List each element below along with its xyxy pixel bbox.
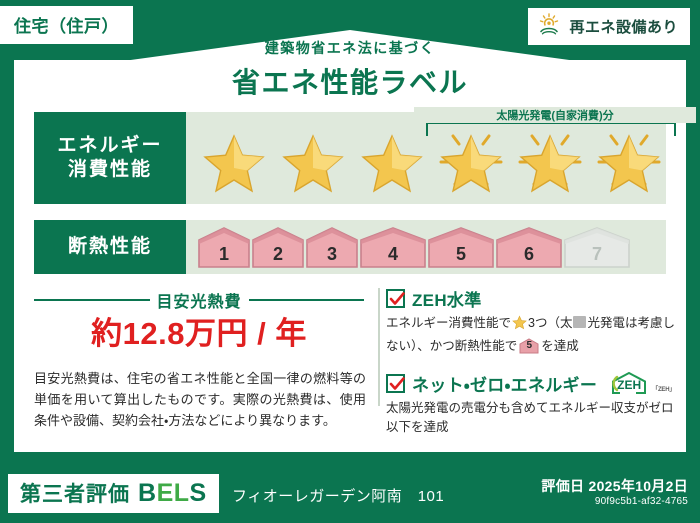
star-icon xyxy=(354,122,429,194)
checkbox-checked-icon xyxy=(386,374,405,393)
energy-star-rating xyxy=(186,112,666,204)
cost-rule-left xyxy=(34,299,150,301)
renewable-energy-badge: 再エネ設備あり xyxy=(528,8,690,45)
star-solar-icon xyxy=(433,122,508,194)
insulation-row-body: 1 2 3 4 5 6 7 xyxy=(186,220,666,274)
evaluation-date: 評価日 2025年10月2日 xyxy=(541,476,688,496)
section-divider xyxy=(378,288,380,406)
cost-value: 約12.8万円 / 年 xyxy=(34,308,364,353)
star-icon xyxy=(275,122,350,194)
insulation-level-number: 5 xyxy=(456,244,466,268)
claim-net-zero-energy: ネット・ゼロ・エネルギー ZEH 「ZEH」 太陽光発電の売電分も含めてエネルギ… xyxy=(386,371,682,439)
claim-net-zero-header: ネット・ゼロ・エネルギー ZEH 「ZEH」 xyxy=(386,371,682,396)
claim-zeh-text-end: を達成 xyxy=(541,339,579,353)
claims-panel: ZEH水準 エネルギー消費性能で3つ（太光発電は考慮しない）、かつ断熱性能で5を… xyxy=(386,286,682,448)
insulation-level-house: 1 xyxy=(198,226,250,268)
star-solar-icon xyxy=(591,122,666,194)
claim-zeh-standard: ZEH水準 エネルギー消費性能で3つ（太光発電は考慮しない）、かつ断熱性能で5を… xyxy=(386,286,682,361)
insulation-level-scale: 1 2 3 4 5 6 7 xyxy=(186,220,666,274)
star-solar-icon xyxy=(512,122,587,194)
star-icon-inline xyxy=(512,315,527,337)
bels-en-text: BELS xyxy=(138,479,207,508)
house-icon-level: 5 xyxy=(519,338,539,354)
energy-label-line2: 消費性能 xyxy=(68,158,152,182)
bels-letters-el: EL xyxy=(157,479,190,507)
house-icon-inline: 5 xyxy=(519,338,539,361)
zeh-logo: ZEH 「ZEH」 xyxy=(608,371,675,395)
property-name: フィオーレガーデン阿南 101 xyxy=(232,485,444,506)
label-title: 建築物省エネ法に基づく 省エネ性能ラベル xyxy=(0,38,700,101)
claim-zeh-text-mid: 3つ（太 xyxy=(528,316,572,330)
bels-letter-b: B xyxy=(138,479,157,507)
claim-zeh-text-pre: エネルギー消費性能で xyxy=(386,316,511,330)
bels-letter-s: S xyxy=(190,479,207,507)
energy-row-body: 太陽光発電(自家消費)分 xyxy=(186,112,666,204)
bels-jp-text: 第三者評価 xyxy=(20,478,130,508)
title-main: 省エネ性能ラベル xyxy=(0,61,700,101)
insulation-level-house: 3 xyxy=(306,226,358,268)
zeh-logo-text: ZEH xyxy=(608,371,650,395)
solar-sun-icon xyxy=(536,13,562,40)
insulation-level-number: 6 xyxy=(524,244,534,268)
insulation-level-number: 2 xyxy=(273,244,283,268)
insulation-level-number: 7 xyxy=(592,244,602,268)
claim-net-zero-title: ネット・ゼロ・エネルギー xyxy=(412,371,597,396)
zeh-logo-caption: 「ZEH」 xyxy=(652,384,675,395)
energy-row-label: エネルギー 消費性能 xyxy=(34,112,186,204)
footer-bar: 第三者評価 BELS フィオーレガーデン阿南 101 評価日 2025年10月2… xyxy=(0,465,700,523)
redacted-text-block xyxy=(573,316,586,328)
energy-label-line1: エネルギー xyxy=(57,134,162,158)
energy-performance-row: エネルギー 消費性能 太陽光発電(自家消費)分 xyxy=(34,112,666,204)
claim-zeh-title: ZEH水準 xyxy=(412,286,482,311)
energy-performance-label: 住宅（住戸） 再エネ設備あり 建築物省エネ法に基づく 省エネ性能ラベル xyxy=(0,0,700,523)
cost-rule-right xyxy=(249,299,365,301)
renewable-badge-label: 再エネ設備あり xyxy=(569,16,678,37)
insulation-level-number: 4 xyxy=(388,244,398,268)
claim-zeh-header: ZEH水準 xyxy=(386,286,682,311)
claim-net-zero-body: 太陽光発電の売電分も含めてエネルギー収支がゼロ以下を達成 xyxy=(386,399,682,439)
insulation-level-house: 6 xyxy=(496,226,562,268)
star-icon xyxy=(196,122,271,194)
insulation-performance-row: 断熱性能 1 2 3 4 5 6 xyxy=(34,220,666,274)
insulation-level-number: 1 xyxy=(219,244,229,268)
category-tag: 住宅（住戸） xyxy=(0,6,133,44)
insulation-level-number: 3 xyxy=(327,244,337,268)
bels-logo: 第三者評価 BELS xyxy=(8,474,219,513)
checkbox-checked-icon xyxy=(386,289,405,308)
claim-zeh-body: エネルギー消費性能で3つ（太光発電は考慮しない）、かつ断熱性能で5を達成 xyxy=(386,314,682,361)
insulation-level-house: 5 xyxy=(428,226,494,268)
insulation-label-text: 断熱性能 xyxy=(68,235,152,259)
insulation-level-house: 2 xyxy=(252,226,304,268)
cost-disclaimer: 目安光熱費は、住宅の省エネ性能と全国一律の燃料等の単価を用いて算出したものです。… xyxy=(34,368,366,431)
insulation-row-label: 断熱性能 xyxy=(34,220,186,274)
evaluation-id: 90f9c5b1-af32-4765 xyxy=(595,496,688,507)
insulation-level-house: 7 xyxy=(564,226,630,268)
insulation-level-house: 4 xyxy=(360,226,426,268)
